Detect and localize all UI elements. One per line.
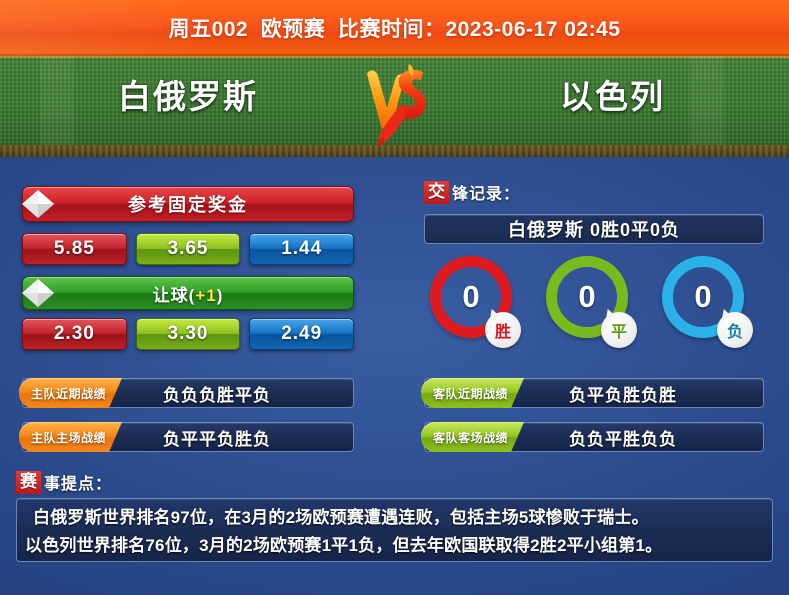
home-venue-form-tag: 主队主场战绩 xyxy=(19,422,122,452)
h2h-ring-loss: 0 负 xyxy=(662,256,754,356)
h2h-record-summary: 白俄罗斯 0胜0平0负 xyxy=(508,216,680,242)
tips-section-label: 赛 事提点： xyxy=(16,470,112,494)
fixed-odd-away[interactable]: 1.44 xyxy=(249,233,354,265)
h2h-record-bar: 白俄罗斯 0胜0平0负 xyxy=(424,214,764,244)
diamond-gem-icon xyxy=(19,187,57,221)
h2h-section-label: 交 锋记录： xyxy=(424,180,520,204)
diamond-gem-icon xyxy=(19,276,57,310)
handicap-odd-home[interactable]: 2.30 xyxy=(22,318,127,350)
match-preview-page: 周五002 欧预赛 比赛时间：2023-06-17 02:45 白俄罗斯 以色列 xyxy=(0,0,789,595)
h2h-rings: 0 胜 0 平 0 负 xyxy=(424,256,764,356)
handicap-prefix: 让球( xyxy=(153,286,196,305)
header-title: 周五002 欧预赛 比赛时间：2023-06-17 02:45 xyxy=(169,13,621,43)
h2h-ring-draw: 0 平 xyxy=(546,256,638,356)
away-team-name: 以色列 xyxy=(560,70,665,118)
handicap-suffix: ) xyxy=(217,286,224,305)
away-venue-form-row: 负负平胜负负 客队客场战绩 xyxy=(424,422,764,452)
ring-badge-draw: 平 xyxy=(601,312,637,348)
h2h-label-box: 交 xyxy=(424,181,449,204)
fixed-odd-draw[interactable]: 3.65 xyxy=(136,233,241,265)
home-recent-form-tag: 主队近期战绩 xyxy=(19,378,122,408)
home-venue-form-row: 负平平负胜负 主队主场战绩 xyxy=(22,422,354,452)
h2h-label-rest: 锋记录： xyxy=(452,180,520,204)
tips-line-1: 白俄罗斯世界排名97位，在3月的2场欧预赛遭遇连败，包括主场5球惨败于瑞士。 xyxy=(25,504,764,532)
handicap-odds-row: 2.30 3.30 2.49 xyxy=(22,318,354,350)
fixed-odds-title: 参考固定奖金 xyxy=(128,191,248,217)
handicap-title-bar: 让球(+1) xyxy=(22,276,354,310)
pitch-stripe xyxy=(40,56,74,145)
handicap-title: 让球(+1) xyxy=(153,281,224,306)
tips-label-box: 赛 xyxy=(16,471,41,494)
h2h-ring-win: 0 胜 xyxy=(430,256,522,356)
away-venue-form-tag: 客队客场战绩 xyxy=(421,422,524,452)
ring-badge-win: 胜 xyxy=(485,312,521,348)
handicap-value: +1 xyxy=(195,286,216,305)
home-team-name: 白俄罗斯 xyxy=(118,70,258,118)
page-header: 周五002 欧预赛 比赛时间：2023-06-17 02:45 xyxy=(0,0,789,56)
away-recent-form-tag: 客队近期战绩 xyxy=(421,378,524,408)
handicap-odd-draw[interactable]: 3.30 xyxy=(136,318,241,350)
fixed-odds-row: 5.85 3.65 1.44 xyxy=(22,233,354,265)
fixed-odd-home[interactable]: 5.85 xyxy=(22,233,127,265)
fixed-odds-title-bar: 参考固定奖金 xyxy=(22,186,354,222)
pitch-stripe xyxy=(690,56,724,145)
away-recent-form-row: 负平负胜负胜 客队近期战绩 xyxy=(424,378,764,408)
tips-box: 白俄罗斯世界排名97位，在3月的2场欧预赛遭遇连败，包括主场5球惨败于瑞士。 以… xyxy=(16,498,773,562)
home-recent-form-row: 负负负胜平负 主队近期战绩 xyxy=(22,378,354,408)
tips-line-2: 以色列世界排名76位，3月的2场欧预赛1平1负，但去年欧国联取得2胜2平小组第1… xyxy=(25,532,764,560)
handicap-odd-away[interactable]: 2.49 xyxy=(249,318,354,350)
vs-flame-icon xyxy=(357,60,435,148)
tips-label-rest: 事提点： xyxy=(44,470,112,494)
ring-badge-loss: 负 xyxy=(717,312,753,348)
